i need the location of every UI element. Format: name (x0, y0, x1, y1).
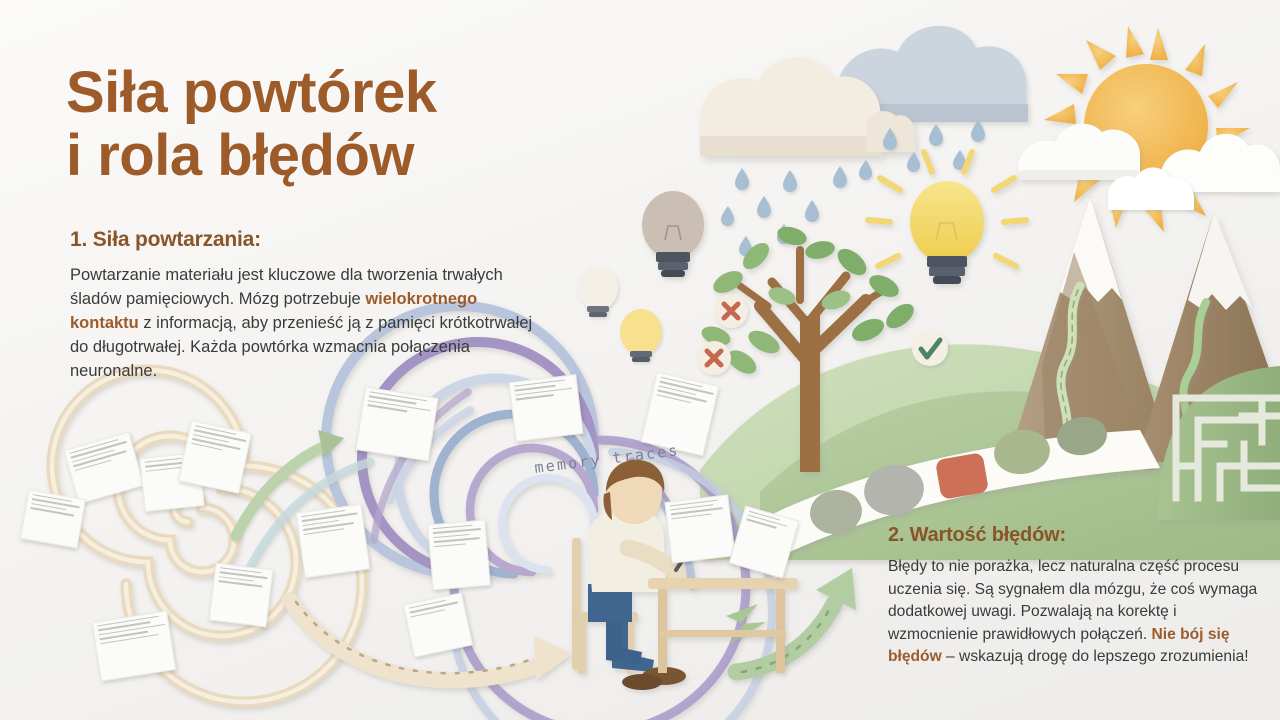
tree (699, 224, 918, 472)
stone-1 (807, 487, 865, 538)
cross-mark-2 (697, 341, 731, 375)
bulb-small-off (578, 266, 618, 317)
memory-traces-label: memory traces (533, 441, 680, 477)
section-1-body-after: z informacją, aby przenieść ją z pamięci… (70, 314, 532, 380)
maze (1158, 366, 1280, 520)
cloud-white-right (1160, 134, 1280, 192)
cross-mark-1 (714, 294, 748, 328)
note-card (729, 505, 799, 578)
note-card (403, 592, 473, 657)
arrow-green-right (736, 568, 856, 672)
stone-5 (1055, 414, 1110, 459)
note-card (427, 520, 491, 591)
check-mark (912, 330, 948, 366)
page-title: Siła powtórek i rola błędów (66, 62, 626, 187)
stone-2 (860, 460, 928, 520)
note-card (92, 610, 176, 681)
mountains (1008, 196, 1280, 470)
note-card (664, 494, 735, 563)
student-figure (572, 460, 798, 690)
cloud-white-left (1018, 124, 1140, 180)
title-line-1: Siła powtórek (66, 60, 437, 125)
section-1-heading: 1. Siła powtarzania: (70, 228, 540, 252)
note-card (355, 387, 438, 462)
sun (1044, 26, 1250, 232)
section-2-body-after: – wskazują drogę do lepszego zrozumienia… (942, 648, 1249, 665)
section-1-body: Powtarzanie materiału jest kluczowe dla … (70, 263, 540, 383)
mountain-paths (1061, 286, 1206, 452)
section-2-body: Błędy to nie porażka, lecz naturalna czę… (888, 556, 1266, 669)
note-card (509, 374, 584, 442)
note-card (20, 489, 86, 548)
green-zigzag (726, 604, 766, 644)
bulb-off (642, 191, 704, 277)
cloud-white-center (1108, 168, 1194, 211)
note-card (64, 432, 145, 505)
section-2: 2. Wartość błędów: Błędy to nie porażka,… (888, 524, 1266, 669)
bulb-on (868, 152, 1026, 284)
infographic-canvas: memory traces Siła powtórek i rola błędó… (0, 0, 1280, 720)
section-1: 1. Siła powtarzania: Powtarzanie materia… (70, 228, 540, 383)
title-line-2: i rola błędów (66, 125, 626, 188)
raindrops (721, 120, 985, 256)
stone-4 (991, 426, 1053, 477)
cloud-grey (836, 26, 1028, 122)
bulb-small-yellow (620, 309, 662, 362)
note-card (296, 504, 371, 579)
note-card (178, 420, 252, 494)
section-2-heading: 2. Wartość błędów: (888, 524, 1266, 547)
note-card (209, 563, 274, 628)
stone-3 (935, 452, 989, 500)
cloud-cream (700, 57, 916, 156)
